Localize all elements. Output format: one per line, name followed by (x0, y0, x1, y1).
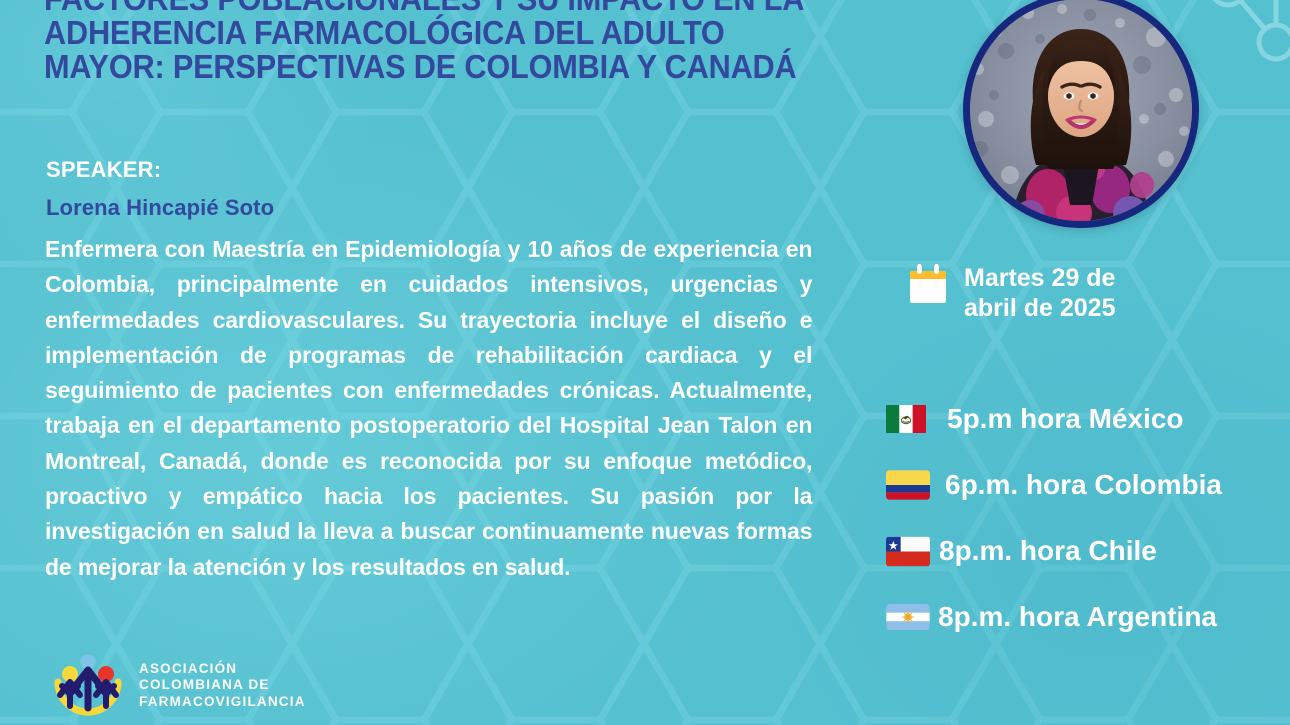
calendar-icon (908, 263, 948, 312)
speaker-label: SPEAKER: (46, 157, 161, 183)
flag-mexico-icon (886, 402, 938, 436)
timezone-row: 8p.m. hora Argentina (886, 584, 1222, 650)
title-line-2: ADHERENCIA FARMACOLÓGICA DEL ADULTO (44, 16, 816, 50)
event-date-text: Martes 29 de abril de 2025 (964, 263, 1115, 323)
timezone-label: 8p.m. hora Chile (938, 535, 1157, 567)
speaker-portrait (963, 0, 1199, 228)
timezone-label: 5p.m hora México (938, 403, 1184, 435)
title-line-3: MAYOR: PERSPECTIVAS DE COLOMBIA Y CANADÁ (44, 50, 816, 84)
timezone-row: 5p.m hora México (886, 386, 1222, 452)
timezone-list: 5p.m hora México 6p.m. hora Colombia (886, 386, 1222, 650)
timezone-row: 8p.m. hora Chile (886, 518, 1222, 584)
page-title: FACTORES POBLACIONALES Y SU IMPACTO EN L… (44, 0, 816, 84)
timezone-label: 8p.m. hora Argentina (938, 601, 1217, 633)
organization-name: ASOCIACIÓN COLOMBIANA DE FARMACOVIGILANC… (139, 661, 306, 711)
flag-chile-icon (886, 536, 938, 567)
acf-logo-icon (50, 650, 126, 721)
timezone-label: 6p.m. hora Colombia (938, 469, 1222, 501)
organization-logo: ASOCIACIÓN COLOMBIANA DE FARMACOVIGILANC… (50, 650, 306, 721)
timezone-row: 6p.m. hora Colombia (886, 452, 1222, 518)
speaker-bio: Enfermera con Maestría en Epidemiología … (45, 232, 812, 585)
flag-colombia-icon (886, 470, 938, 500)
speaker-name: Lorena Hincapié Soto (46, 195, 274, 221)
event-date-row: Martes 29 de abril de 2025 (908, 263, 1115, 323)
flag-argentina-icon (886, 604, 938, 630)
